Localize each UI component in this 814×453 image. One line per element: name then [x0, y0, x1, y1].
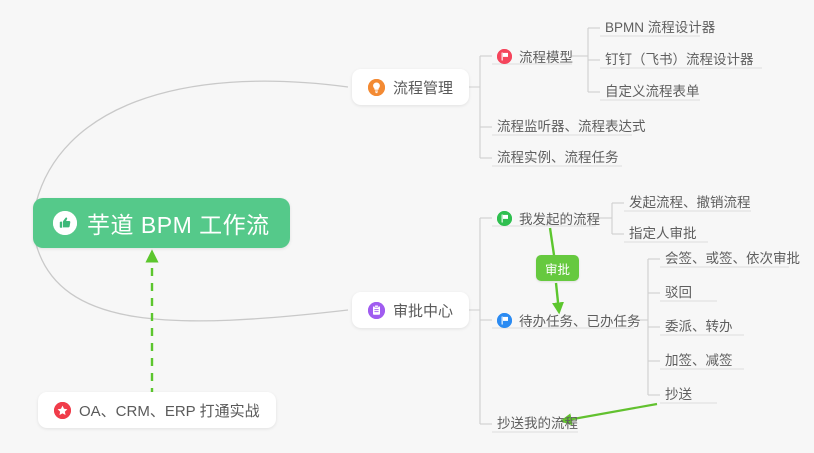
node-custom-process-form-label: 自定义流程表单: [605, 80, 700, 100]
node-dingtalk-feishu-designer[interactable]: 钉钉（飞书）流程设计器: [600, 45, 760, 71]
node-process-model-label: 流程模型: [519, 46, 573, 66]
star-icon: [54, 402, 71, 419]
root-node[interactable]: 芋道 BPM 工作流: [33, 198, 290, 248]
node-cc-to-me-process[interactable]: 抄送我的流程: [492, 409, 584, 435]
mindmap-canvas: 芋道 BPM 工作流 OA、CRM、ERP 打通实战 流程管理: [0, 0, 814, 453]
node-delegate-transfer[interactable]: 委派、转办: [660, 312, 739, 338]
node-countersign-orsign-sequential-label: 会签、或签、依次审批: [665, 247, 800, 267]
branch-process-management[interactable]: 流程管理: [352, 69, 469, 105]
flag-red-icon: [497, 49, 512, 64]
node-reject[interactable]: 驳回: [660, 278, 698, 304]
flow-badge-approval: 审批: [536, 255, 579, 281]
floating-node-practice[interactable]: OA、CRM、ERP 打通实战: [38, 392, 276, 428]
node-process-listener-expression-label: 流程监听器、流程表达式: [497, 115, 646, 135]
node-start-cancel-process-label: 发起流程、撤销流程: [629, 191, 751, 211]
lightbulb-icon: [368, 79, 385, 96]
node-bpmn-designer[interactable]: BPMN 流程设计器: [600, 13, 721, 39]
node-reject-label: 驳回: [665, 281, 692, 301]
node-assignee-approval-label: 指定人审批: [629, 222, 697, 242]
clipboard-icon: [368, 302, 385, 319]
node-carbon-copy[interactable]: 抄送: [660, 380, 698, 406]
node-delegate-transfer-label: 委派、转办: [665, 315, 733, 335]
node-add-remove-sign[interactable]: 加签、减签: [660, 346, 739, 372]
thumbs-up-icon: [53, 211, 77, 235]
branch-process-management-label: 流程管理: [393, 77, 453, 98]
node-add-remove-sign-label: 加签、减签: [665, 349, 733, 369]
flow-badge-approval-label: 审批: [545, 259, 570, 278]
floating-node-label: OA、CRM、ERP 打通实战: [79, 400, 260, 421]
node-todo-done-tasks[interactable]: 待办任务、已办任务: [492, 307, 647, 333]
link-root-to-approval-center: [36, 244, 348, 321]
node-my-initiated-process-label: 我发起的流程: [519, 208, 600, 228]
node-process-listener-expression[interactable]: 流程监听器、流程表达式: [492, 112, 652, 138]
node-process-instance-task[interactable]: 流程实例、流程任务: [492, 143, 625, 169]
link-root-to-process-management: [36, 81, 348, 203]
node-process-model[interactable]: 流程模型: [492, 43, 579, 69]
flag-blue-icon: [497, 313, 512, 328]
node-todo-done-tasks-label: 待办任务、已办任务: [519, 310, 641, 330]
node-custom-process-form[interactable]: 自定义流程表单: [600, 77, 706, 103]
branch-approval-center-label: 审批中心: [393, 300, 453, 321]
node-carbon-copy-label: 抄送: [665, 383, 692, 403]
node-process-instance-task-label: 流程实例、流程任务: [497, 146, 619, 166]
node-cc-to-me-process-label: 抄送我的流程: [497, 412, 578, 432]
node-countersign-orsign-sequential[interactable]: 会签、或签、依次审批: [660, 244, 806, 270]
root-label: 芋道 BPM 工作流: [87, 206, 270, 240]
node-assignee-approval[interactable]: 指定人审批: [624, 219, 703, 245]
branch-approval-center[interactable]: 审批中心: [352, 292, 469, 328]
node-bpmn-designer-label: BPMN 流程设计器: [605, 16, 715, 36]
node-my-initiated-process[interactable]: 我发起的流程: [492, 205, 606, 231]
flag-green-icon: [497, 211, 512, 226]
flow-arrow-approval: [550, 228, 554, 255]
node-start-cancel-process[interactable]: 发起流程、撤销流程: [624, 188, 757, 214]
node-dingtalk-feishu-designer-label: 钉钉（飞书）流程设计器: [605, 48, 754, 68]
